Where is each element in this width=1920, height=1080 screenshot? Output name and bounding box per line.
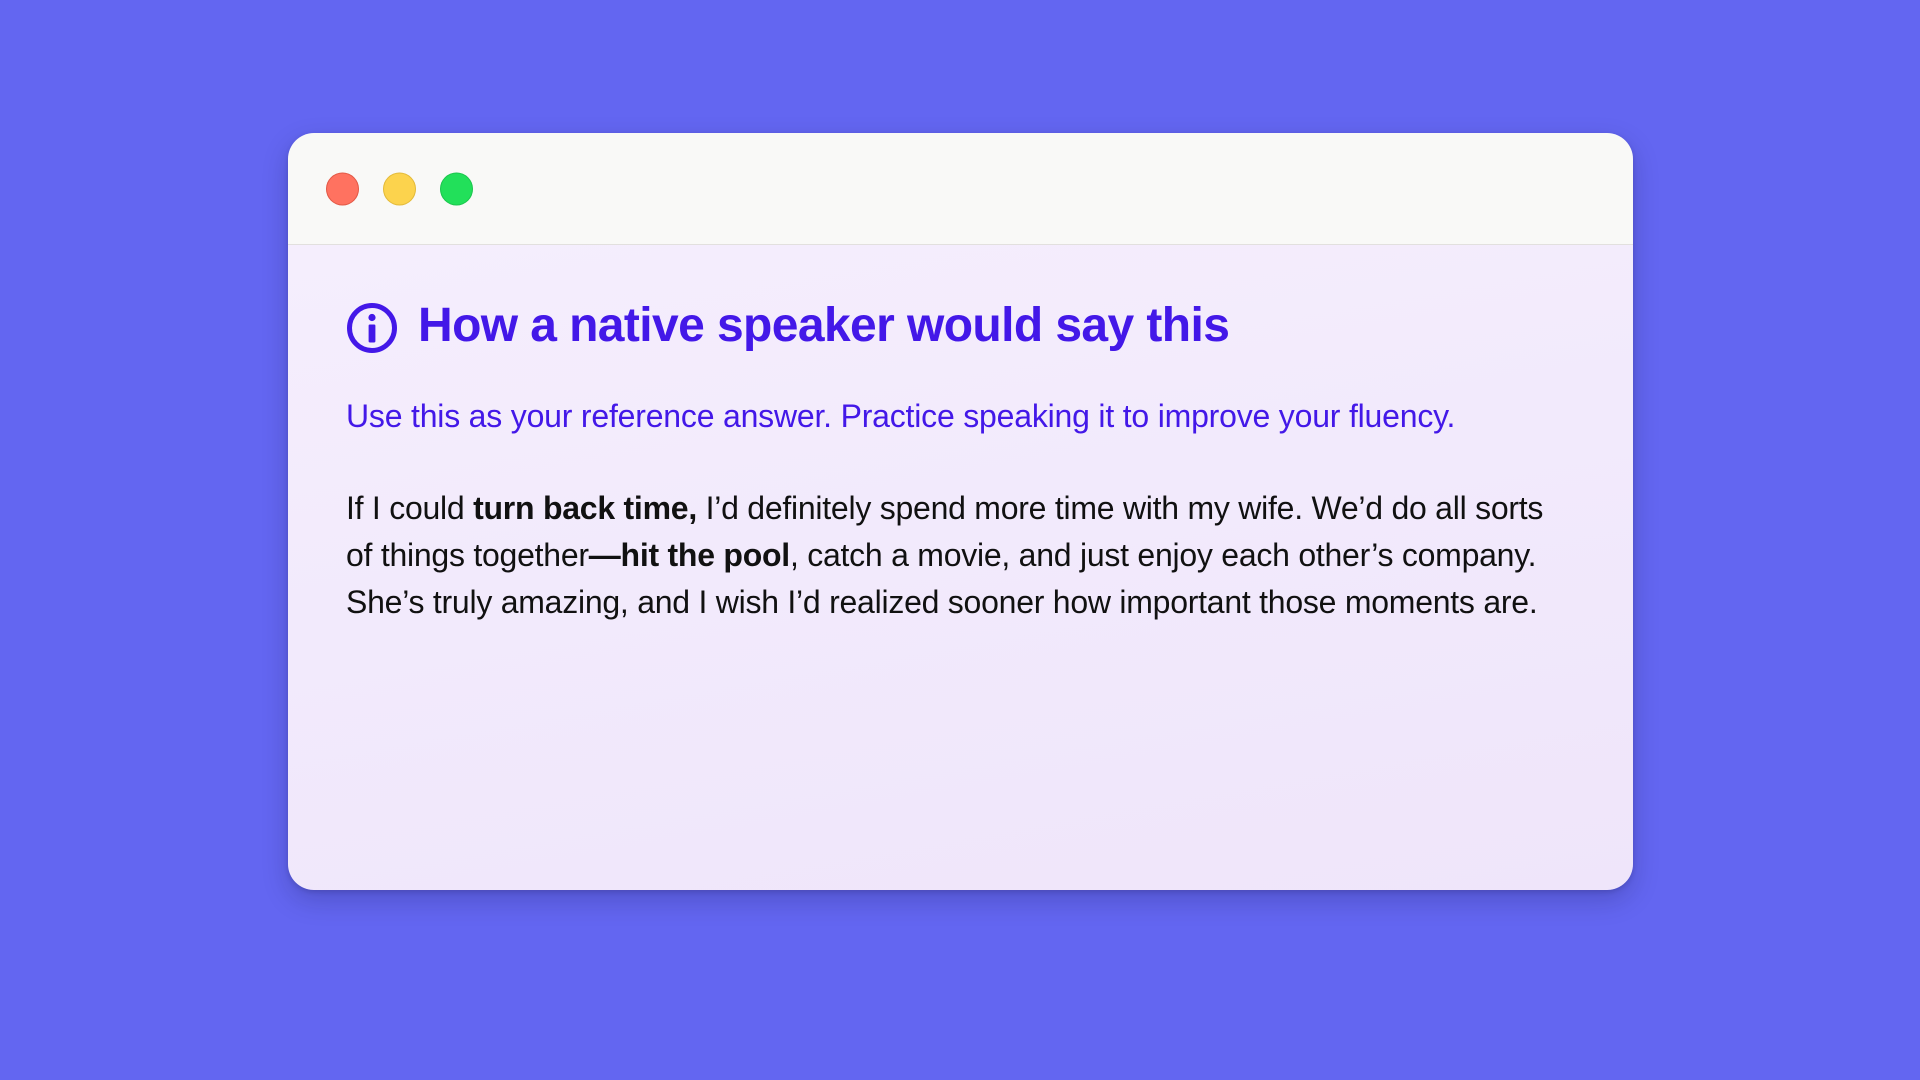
window-controls <box>326 172 473 205</box>
body-text-emphasis: turn back time, <box>473 490 697 526</box>
body-text-run: If I could <box>346 490 473 526</box>
close-button[interactable] <box>326 172 359 205</box>
page-background: How a native speaker would say this Use … <box>0 0 1920 1080</box>
reference-answer-text: If I could turn back time, I’d definitel… <box>346 485 1546 625</box>
minimize-button[interactable] <box>383 172 416 205</box>
window-titlebar <box>288 133 1633 245</box>
card-content: How a native speaker would say this Use … <box>288 245 1633 890</box>
card-subtitle: Use this as your reference answer. Pract… <box>346 394 1526 439</box>
body-text-emphasis: —hit the pool <box>589 537 790 573</box>
info-circle-icon <box>346 302 398 354</box>
card-heading: How a native speaker would say this <box>346 298 1573 354</box>
page-title: How a native speaker would say this <box>418 301 1229 351</box>
app-window: How a native speaker would say this Use … <box>288 133 1633 890</box>
maximize-button[interactable] <box>440 172 473 205</box>
